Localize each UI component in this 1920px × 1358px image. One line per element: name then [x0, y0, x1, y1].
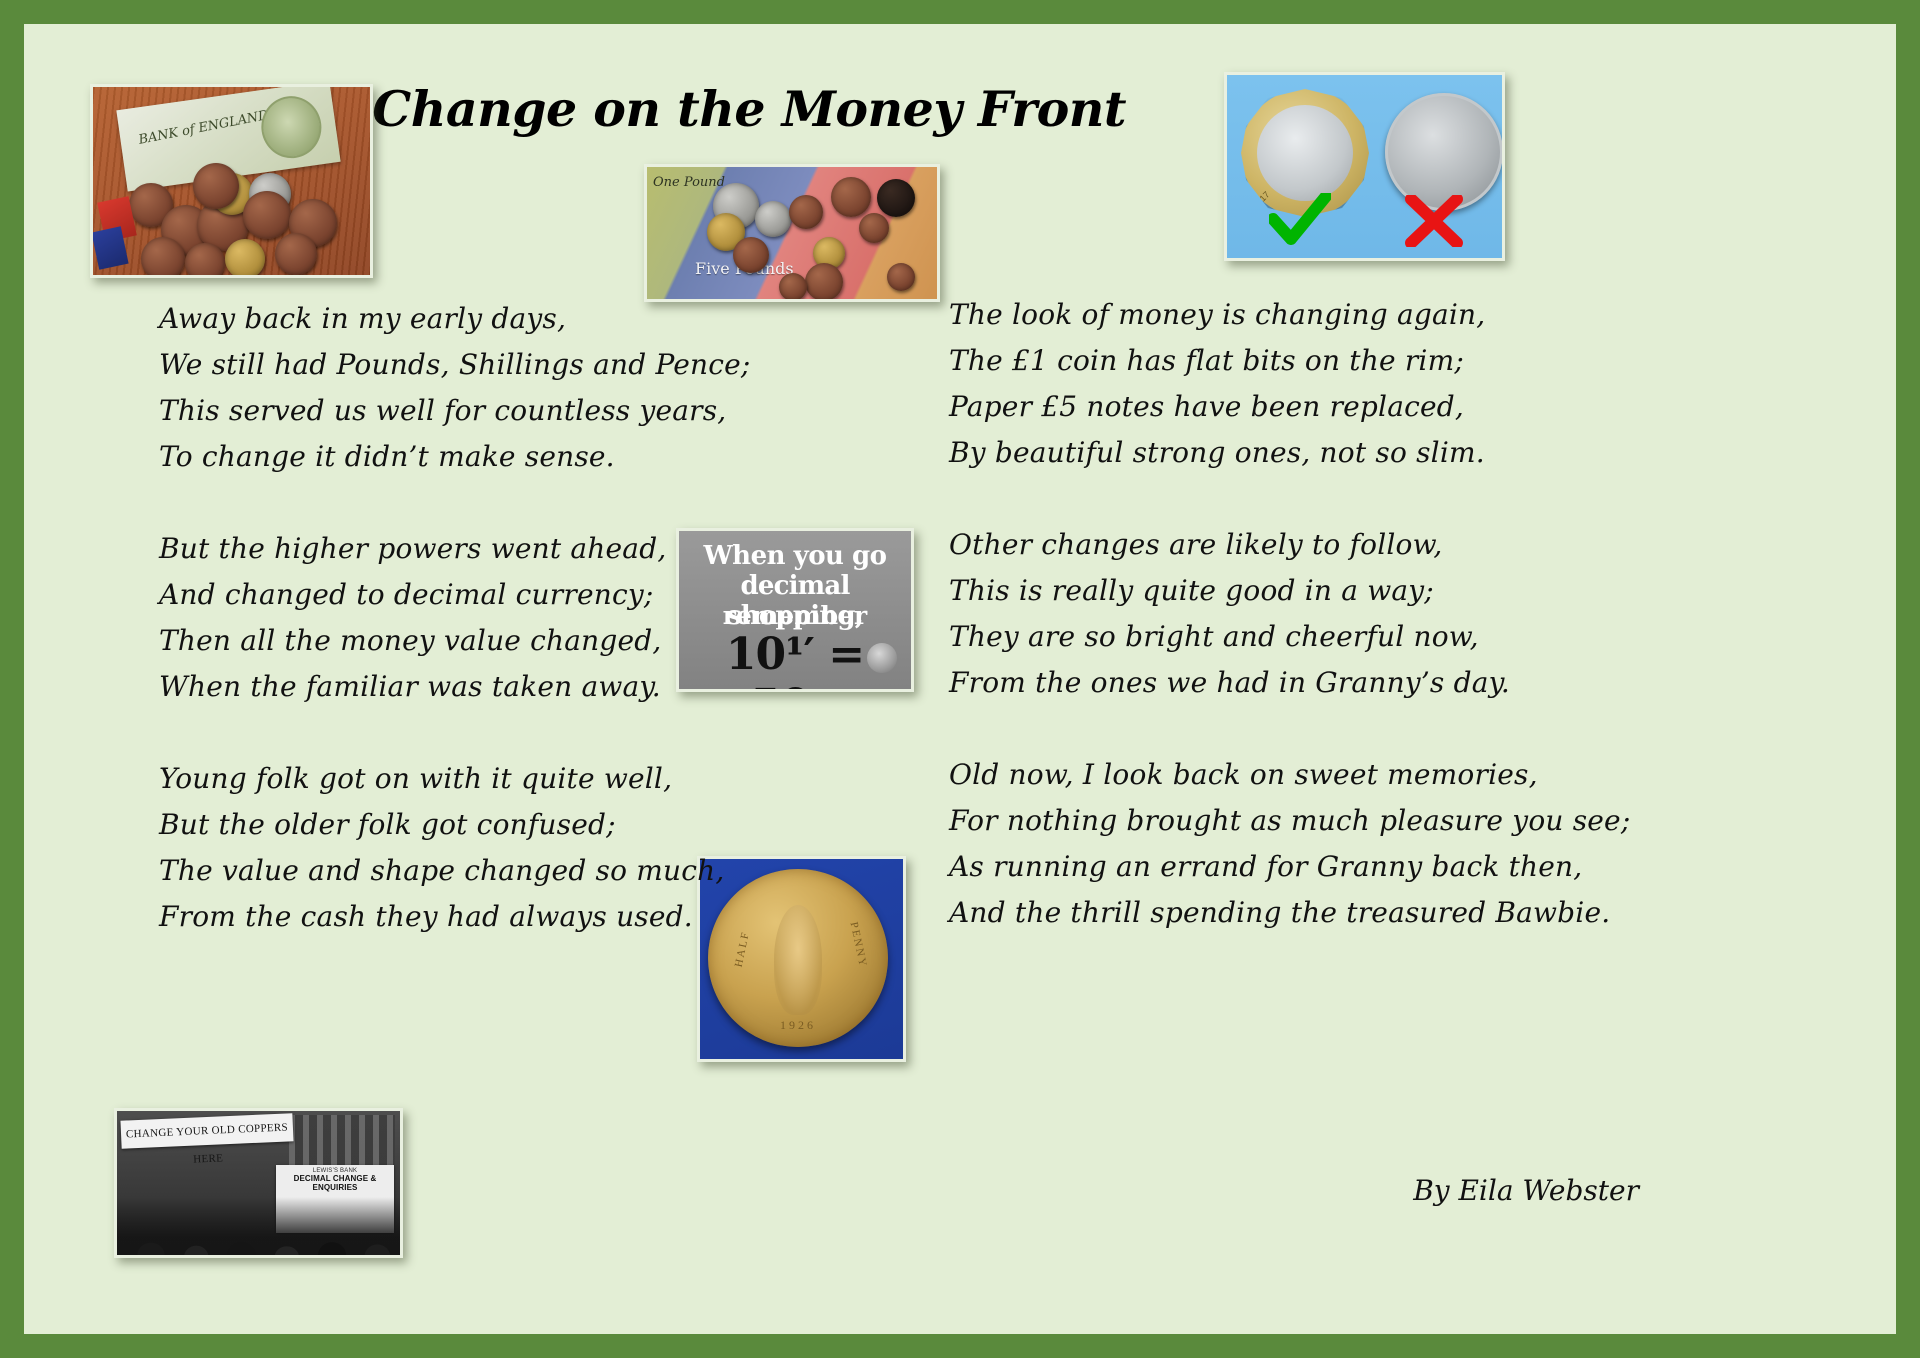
author-byline: By Eila Webster: [1189, 1174, 1639, 1207]
poem-line: We still had Pounds, Shillings and Pence…: [159, 342, 799, 388]
poem-line: And the thrill spending the treasured Ba…: [949, 890, 1649, 936]
stanza: The look of money is changing again, The…: [949, 292, 1649, 476]
coin: [831, 177, 871, 217]
sign-coin-icon: [867, 643, 897, 673]
poem-line: This is really quite good in a way;: [949, 568, 1649, 614]
green-tick-icon: [1269, 193, 1331, 245]
poem-line: By beautiful strong ones, not so slim.: [949, 430, 1649, 476]
coin: [185, 243, 225, 278]
stanza: Young folk got on with it quite well, Bu…: [159, 756, 799, 940]
coin: [789, 195, 823, 229]
image-decimal-change-bank: CHANGE YOUR OLD COPPERS HERE LEWIS’S BAN…: [114, 1108, 403, 1258]
halfpenny-year: 1926: [708, 1018, 888, 1033]
note-bank-text: BANK of ENGLAND: [137, 108, 269, 148]
poem-line: To change it didn’t make sense.: [159, 434, 799, 480]
coin: [887, 263, 915, 291]
poem-line: Old now, I look back on sweet memories,: [949, 752, 1649, 798]
poem-line: For nothing brought as much pleasure you…: [949, 798, 1649, 844]
stanza: Away back in my early days, We still had…: [159, 296, 799, 480]
stanza: But the higher powers went ahead, And ch…: [159, 526, 799, 710]
bw-board-line-2: DECIMAL CHANGE & ENQUIRIES: [276, 1174, 394, 1192]
poem-left-column: Away back in my early days, We still had…: [159, 296, 799, 940]
coin: [877, 179, 915, 217]
halfpenny-legend-right: PENNY: [848, 921, 869, 969]
poem-line: As running an errand for Granny back the…: [949, 844, 1649, 890]
poem-line: The £1 coin has flat bits on the rim;: [949, 338, 1649, 384]
bw-banner-text: CHANGE YOUR OLD COPPERS HERE: [120, 1113, 293, 1148]
poem-line: Young folk got on with it quite well,: [159, 756, 799, 802]
coin: [755, 201, 791, 237]
coin: [225, 239, 265, 278]
poem-line: Paper £5 notes have been replaced,: [949, 384, 1649, 430]
note-one-pound-label: One Pound: [653, 175, 725, 190]
stanza: Old now, I look back on sweet memories, …: [949, 752, 1649, 936]
image-note-and-coins: BANK of ENGLAND: [90, 84, 373, 278]
poem-line: When the familiar was taken away.: [159, 664, 799, 710]
poem-line: From the cash they had always used.: [159, 894, 799, 940]
poem-line: And changed to decimal currency;: [159, 572, 799, 618]
coin: [275, 233, 317, 275]
note-portrait-oval: [257, 92, 325, 162]
coin: [733, 237, 769, 273]
poem-line: They are so bright and cheerful now,: [949, 614, 1649, 660]
poem-line: The look of money is changing again,: [949, 292, 1649, 338]
poem-line: This served us well for countless years,: [159, 388, 799, 434]
poem-line: But the higher powers went ahead,: [159, 526, 799, 572]
bw-crowd: [117, 1197, 400, 1255]
coin: [193, 163, 239, 209]
image-pound-coins-comparison: 2017: [1224, 72, 1505, 261]
poster-page: All Change on the Money Front BANK of EN…: [0, 0, 1920, 1358]
poem-line: But the older folk got confused;: [159, 802, 799, 848]
image-notes-and-coins: One Pound Five Pounds: [644, 164, 940, 302]
stanza: Other changes are likely to follow, This…: [949, 522, 1649, 706]
bw-store-columns: [289, 1115, 395, 1167]
poem-line: Other changes are likely to follow,: [949, 522, 1649, 568]
poem-line: Then all the money value changed,: [159, 618, 799, 664]
poem-line: From the ones we had in Granny’s day.: [949, 660, 1649, 706]
new-pound-coin-portrait: [1257, 105, 1353, 201]
red-cross-icon: [1405, 195, 1463, 247]
old-pound-coin: [1385, 93, 1503, 211]
coin: [805, 263, 843, 301]
poem-right-column: The look of money is changing again, The…: [949, 292, 1649, 936]
poster-canvas: All Change on the Money Front BANK of EN…: [24, 24, 1896, 1334]
poem-line: Away back in my early days,: [159, 296, 799, 342]
coin: [243, 191, 291, 239]
poem-line: The value and shape changed so much,: [159, 848, 799, 894]
coin: [859, 213, 889, 243]
coin: [141, 237, 185, 278]
